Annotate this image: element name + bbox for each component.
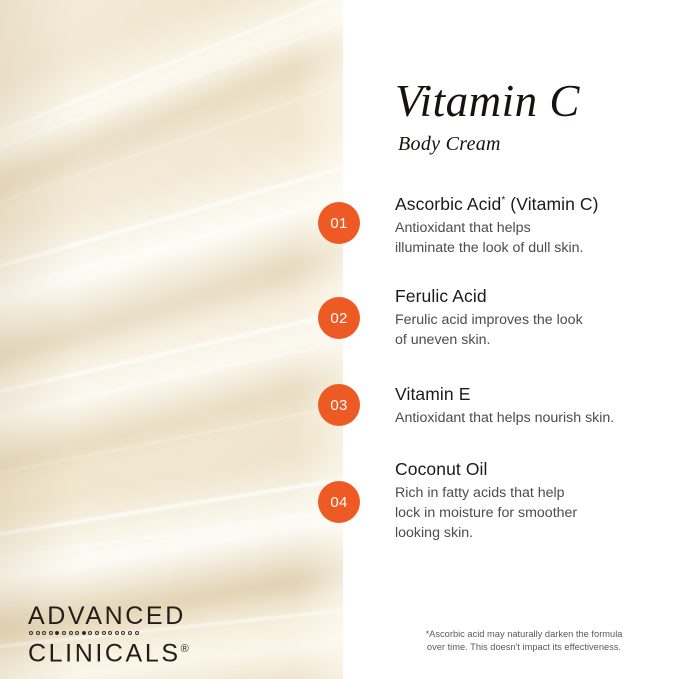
ingredient-description-01: Antioxidant that helps illuminate the lo…: [395, 218, 663, 258]
content-panel: Vitamin C Body Cream Ascorbic Acid* (Vit…: [343, 0, 679, 679]
ingredient-item-02: Ferulic Acid Ferulic acid improves the l…: [395, 285, 663, 350]
ingredient-item-03: Vitamin E Antioxidant that helps nourish…: [395, 383, 663, 428]
logo-dot: [49, 631, 53, 635]
cream-texture-image: [0, 0, 343, 679]
brand-logo-line2: CLINICALS®: [28, 636, 189, 666]
logo-dot: [135, 631, 139, 635]
product-info-graphic: ADVANCED CLINICALS® Vitamin C Body Crea: [0, 0, 679, 679]
step-badge-04: 04: [318, 481, 360, 523]
logo-dot-filled: [82, 631, 86, 635]
logo-dot: [128, 631, 132, 635]
ingredient-item-01: Ascorbic Acid* (Vitamin C) Antioxidant t…: [395, 190, 663, 258]
title-block: Vitamin C Body Cream: [395, 76, 580, 156]
logo-dot: [29, 631, 33, 635]
logo-dot: [102, 631, 106, 635]
footnote-text: *Ascorbic acid may naturally darken the …: [393, 628, 655, 653]
ingredient-item-04: Coconut Oil Rich in fatty acids that hel…: [395, 458, 663, 543]
logo-dot: [108, 631, 112, 635]
registered-trademark-symbol: ®: [181, 643, 189, 655]
logo-dot: [88, 631, 92, 635]
brand-logo-line2-text: CLINICALS: [28, 639, 181, 667]
logo-dot: [62, 631, 66, 635]
logo-dot-filled: [55, 631, 59, 635]
logo-dot: [121, 631, 125, 635]
brand-logo: ADVANCED CLINICALS®: [28, 603, 189, 666]
ingredient-name-03: Vitamin E: [395, 383, 663, 405]
ingredient-description-04: Rich in fatty acids that help lock in mo…: [395, 483, 663, 543]
logo-dot: [36, 631, 40, 635]
product-subtitle: Body Cream: [398, 132, 580, 156]
logo-dot: [69, 631, 73, 635]
logo-dot: [115, 631, 119, 635]
page-title: Vitamin C: [395, 76, 580, 126]
brand-logo-line1: ADVANCED: [28, 603, 189, 629]
step-badge-02: 02: [318, 297, 360, 339]
step-badge-01: 01: [318, 202, 360, 244]
ingredient-name-01-text: Ascorbic Acid: [395, 194, 501, 214]
ingredient-description-03: Antioxidant that helps nourish skin.: [395, 408, 663, 428]
logo-dot: [95, 631, 99, 635]
ingredient-name-02: Ferulic Acid: [395, 285, 663, 307]
logo-dot: [75, 631, 79, 635]
ingredient-description-02: Ferulic acid improves the look of uneven…: [395, 310, 663, 350]
texture-vignette: [0, 0, 343, 679]
step-badge-03: 03: [318, 384, 360, 426]
logo-dot: [42, 631, 46, 635]
ingredient-name-01: Ascorbic Acid* (Vitamin C): [395, 190, 663, 215]
ingredient-name-04: Coconut Oil: [395, 458, 663, 480]
ingredient-name-01-suffix: (Vitamin C): [505, 194, 598, 214]
